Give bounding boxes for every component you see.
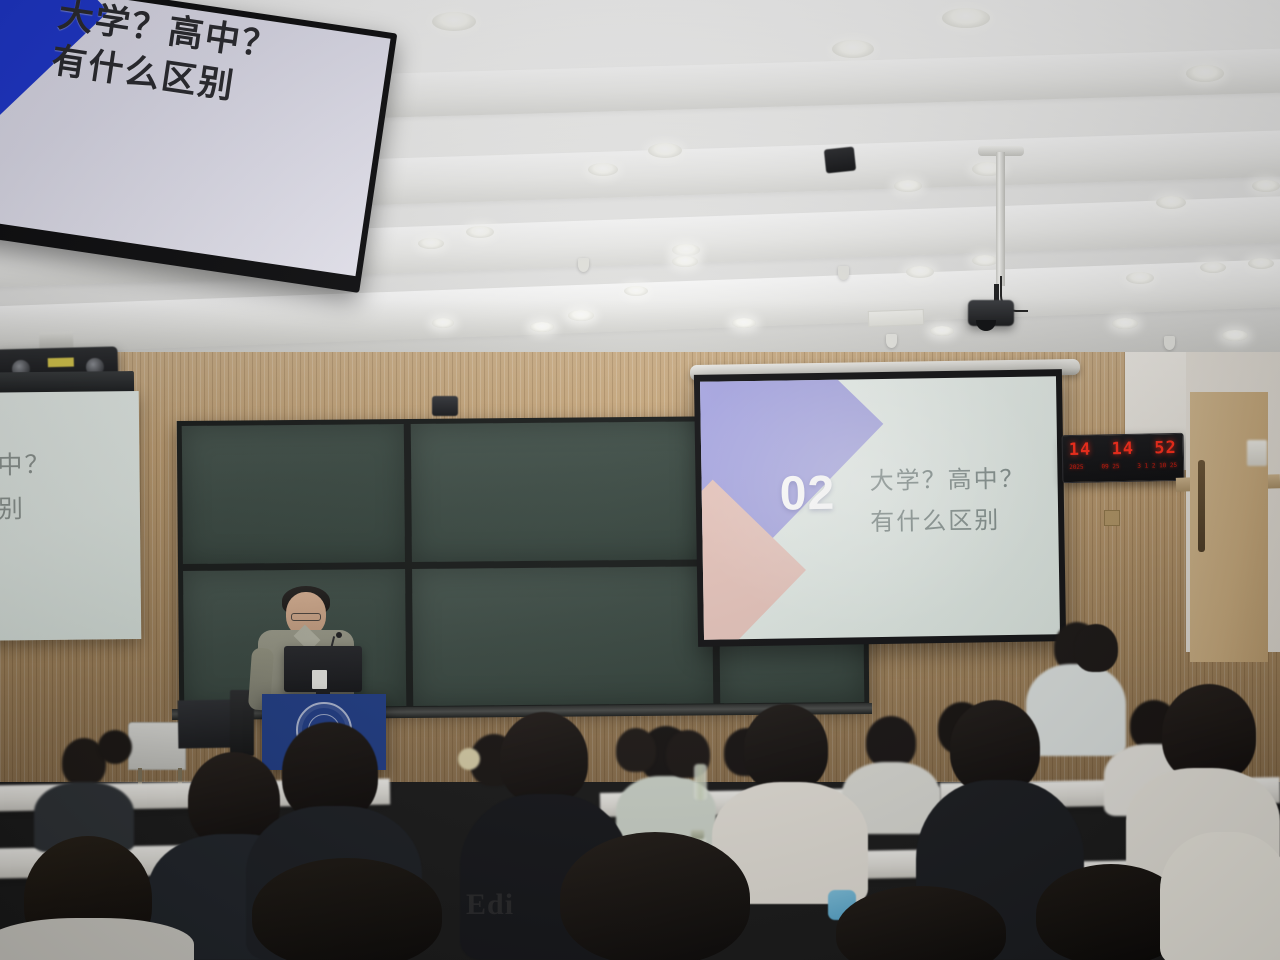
audience-hair-bun xyxy=(98,730,132,764)
downlight-icon xyxy=(648,143,682,158)
lecture-hall-scene: 大学？高中？ 有什么区别 ？高中？ 么区别 xyxy=(0,0,1280,960)
slide-section-number: 02 xyxy=(779,466,835,522)
sprinkler-icon xyxy=(1164,336,1175,350)
downlight-icon xyxy=(1200,262,1226,273)
downlight-icon xyxy=(432,318,454,328)
clock-minutes: 14 xyxy=(1111,439,1134,459)
clock-sub-right: 3 1 2 10 25 xyxy=(1137,462,1177,470)
water-bottle xyxy=(694,764,707,800)
microphone-head-icon xyxy=(336,632,342,638)
left-screen-line1: ？高中？ xyxy=(0,444,52,489)
downlight-icon xyxy=(418,238,444,249)
projector-label xyxy=(48,358,74,368)
door-handle-icon[interactable] xyxy=(1198,460,1205,552)
downlight-icon xyxy=(672,256,698,267)
downlight-icon xyxy=(1252,180,1280,192)
chalkboard-pane xyxy=(182,424,405,564)
ceiling-vent xyxy=(868,309,925,327)
downlight-icon xyxy=(1156,196,1186,209)
led-clock: 14 14 52 2025 09 25 3 1 2 10 25 xyxy=(1062,433,1185,483)
downlight-icon xyxy=(432,12,476,31)
speaker-icon xyxy=(824,146,856,173)
sprinkler-icon xyxy=(578,258,589,272)
downlight-icon xyxy=(530,322,554,332)
downlight-icon xyxy=(672,244,700,256)
audience-torso xyxy=(1026,664,1126,756)
clock-seconds: 52 xyxy=(1154,438,1177,458)
downlight-icon xyxy=(624,286,648,296)
clock-sub-mid: 09 25 xyxy=(1101,463,1119,470)
left-projection-screen: ？高中？ 么区别 xyxy=(0,391,141,641)
downlight-icon xyxy=(1222,330,1248,341)
downlight-icon xyxy=(568,310,594,321)
downlight-icon xyxy=(1248,258,1274,269)
slide-line2: 有什么区别 xyxy=(870,500,1027,544)
slide-line1: 大学？高中？ xyxy=(869,459,1026,503)
downlight-icon xyxy=(1112,318,1138,329)
clock-sub-left: 2025 xyxy=(1069,464,1084,471)
sprinkler-icon xyxy=(886,334,897,348)
chalkboard-pane xyxy=(411,421,712,562)
audience-head xyxy=(500,712,588,804)
downlight-icon xyxy=(972,255,998,266)
audience-head xyxy=(252,858,442,960)
downlight-icon xyxy=(588,163,618,176)
main-projection-screen: 02 大学？高中？ 有什么区别 xyxy=(694,369,1066,647)
audience-head xyxy=(616,728,656,772)
audience-torso xyxy=(0,918,194,960)
audience-torso xyxy=(1160,832,1280,960)
chalkboard-pane xyxy=(412,566,713,706)
audience-head xyxy=(560,832,750,960)
sprinkler-icon xyxy=(838,266,849,280)
downlight-icon xyxy=(930,326,954,336)
wall-sign xyxy=(1247,440,1267,466)
downlight-icon xyxy=(1186,65,1224,82)
speaker-icon xyxy=(432,396,458,416)
downlight-icon xyxy=(894,180,922,192)
downlight-icon xyxy=(732,318,756,328)
audience-head xyxy=(744,704,828,792)
audience-head xyxy=(866,716,916,768)
downlight-icon xyxy=(832,40,874,58)
clock-hours: 14 xyxy=(1069,440,1092,460)
downlight-icon xyxy=(1126,272,1154,284)
downlight-icon xyxy=(942,8,990,28)
presentation-slide: 02 大学？高中？ 有什么区别 xyxy=(700,376,1060,640)
left-screen-line2: 么区别 xyxy=(0,488,52,533)
monitor-label xyxy=(312,670,327,689)
shirt-text: Edi xyxy=(466,888,514,922)
downlight-icon xyxy=(906,266,934,278)
audience-hair-bun xyxy=(458,748,480,770)
wall-outlet xyxy=(1104,510,1120,526)
presenter-glasses xyxy=(291,613,321,621)
downlight-icon xyxy=(466,226,494,238)
projector-pole xyxy=(996,152,1005,286)
audience-head xyxy=(1074,624,1118,672)
